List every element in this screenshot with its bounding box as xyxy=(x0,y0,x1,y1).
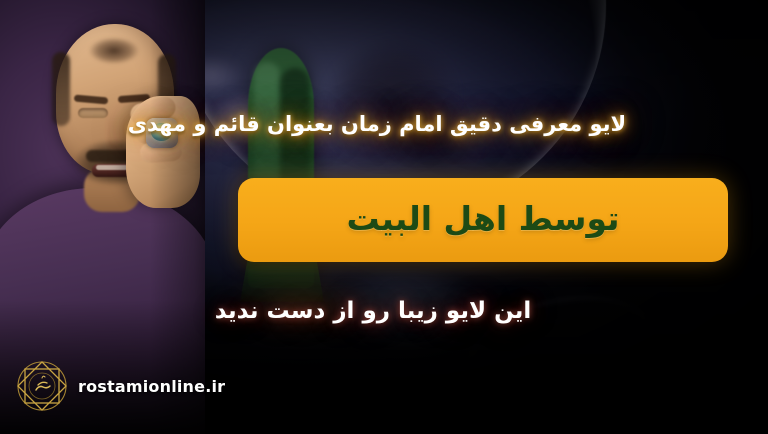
rostami-octagram-logo-icon xyxy=(16,360,68,412)
highlight-banner-text: توسط اهل البیت xyxy=(346,200,619,241)
headline-text: لایو معرفی دقیق امام زمان بعنوان قائم و … xyxy=(0,112,768,136)
watermark: rostamionline.ir xyxy=(16,360,225,412)
presenter-teeth xyxy=(96,165,128,170)
highlight-banner: توسط اهل البیت xyxy=(238,178,728,262)
presenter-hairline xyxy=(84,32,144,66)
watermark-site-text: rostamionline.ir xyxy=(78,377,225,396)
thumbnail-canvas: لایو معرفی دقیق امام زمان بعنوان قائم و … xyxy=(0,0,768,434)
subheadline-text: این لایو زیبا رو از دست ندید xyxy=(0,298,768,324)
